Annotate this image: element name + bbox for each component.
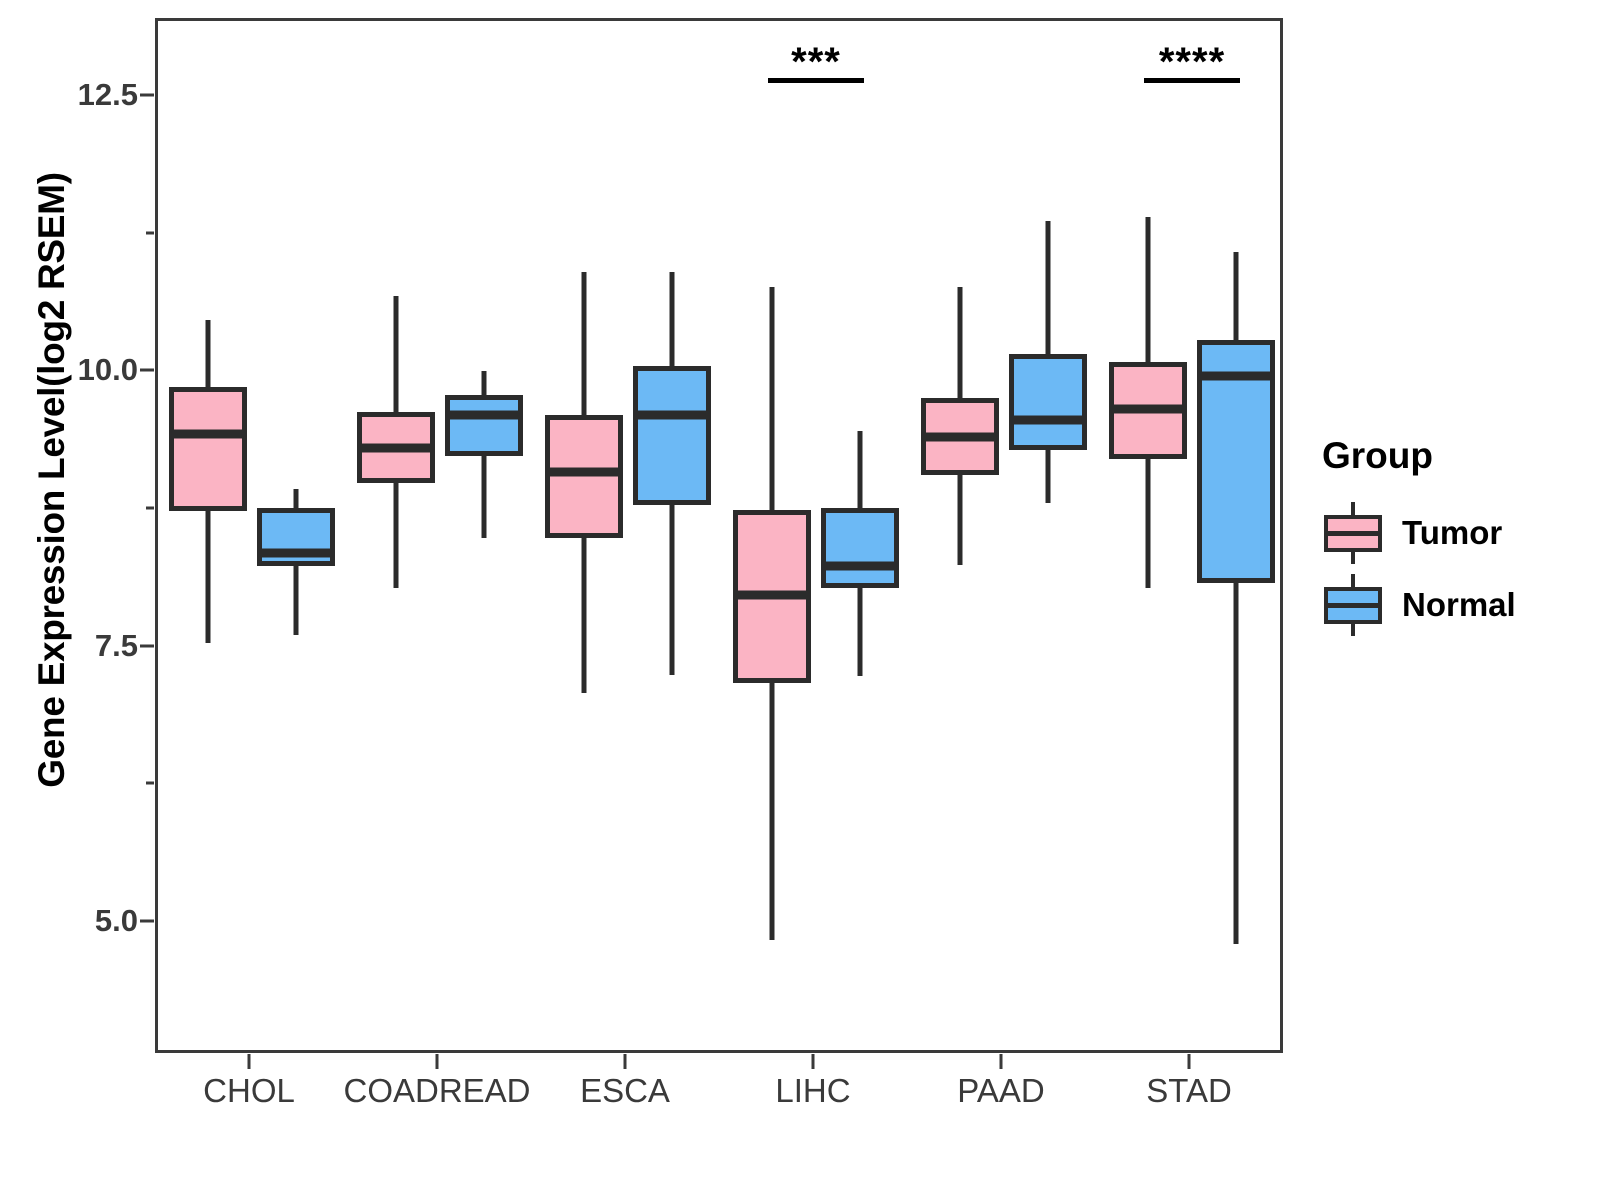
y-tick-label: 12.5	[18, 77, 138, 113]
legend-entries: TumorNormal	[1322, 497, 1592, 641]
y-tick-mark	[140, 644, 154, 647]
legend-label: Normal	[1402, 586, 1516, 624]
median-line	[445, 411, 523, 420]
legend-title: Group	[1322, 435, 1592, 477]
x-tick-mark	[624, 1054, 627, 1069]
median-line	[169, 429, 247, 438]
y-tick-mark	[140, 94, 154, 97]
median-line	[633, 411, 711, 420]
box-rect	[821, 508, 899, 588]
significance-stars: ***	[791, 42, 841, 82]
plot-panel: *******	[155, 18, 1283, 1053]
x-tick-mark	[812, 1054, 815, 1069]
median-line	[545, 468, 623, 477]
legend: Group TumorNormal	[1322, 435, 1592, 641]
y-tick-label: 10.0	[18, 352, 138, 388]
y-tick-label: 7.5	[18, 628, 138, 664]
x-tick-mark	[436, 1054, 439, 1069]
legend-label: Tumor	[1402, 514, 1502, 552]
y-tick-mark	[140, 919, 154, 922]
median-line	[921, 433, 999, 442]
median-line	[733, 590, 811, 599]
median-line	[1109, 404, 1187, 413]
legend-key-icon	[1322, 574, 1384, 636]
x-tick-mark	[1000, 1054, 1003, 1069]
median-line	[1197, 371, 1275, 380]
y-tick-mark-minor	[146, 506, 154, 509]
x-tick-mark	[1188, 1054, 1191, 1069]
legend-key-icon	[1322, 502, 1384, 564]
box-rect	[633, 366, 711, 506]
median-line	[821, 562, 899, 571]
y-tick-mark	[140, 369, 154, 372]
box-rect	[445, 395, 523, 456]
y-tick-mark-minor	[146, 231, 154, 234]
legend-item-normal[interactable]: Normal	[1322, 569, 1592, 641]
boxplot-figure: Gene Expression Level(log2 RSEM) 5.07.51…	[0, 0, 1600, 1200]
x-tick-mark	[248, 1054, 251, 1069]
legend-item-tumor[interactable]: Tumor	[1322, 497, 1592, 569]
box-rect	[1009, 354, 1087, 451]
y-axis-title: Gene Expression Level(log2 RSEM)	[22, 30, 82, 930]
y-tick-label: 5.0	[18, 903, 138, 939]
box-rect	[169, 387, 247, 511]
y-tick-mark-minor	[146, 782, 154, 785]
median-line	[357, 444, 435, 453]
median-line	[1009, 415, 1087, 424]
median-line	[257, 548, 335, 557]
x-tick-label: STAD	[1029, 1072, 1349, 1110]
significance-stars: ****	[1159, 42, 1225, 82]
